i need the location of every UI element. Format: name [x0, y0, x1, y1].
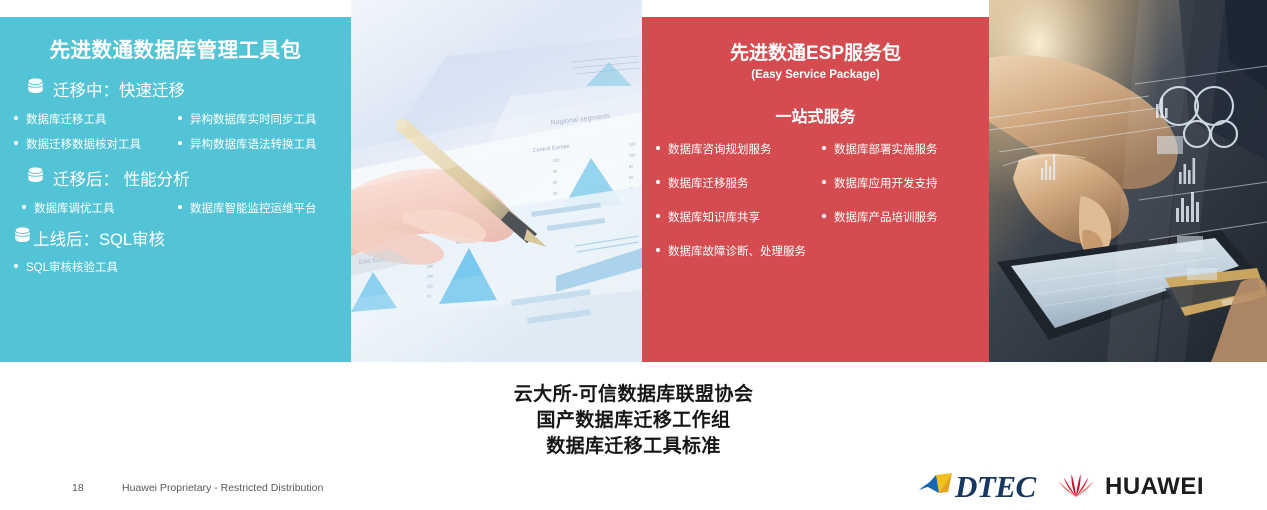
teal-section-heading-performance: 迁移后： 性能分析 [0, 166, 351, 191]
bullet-dot-icon [656, 146, 660, 150]
bullet-dot-icon [14, 141, 18, 145]
list-item: 数据库故障诊断、处理服务 [642, 243, 822, 259]
list-item: 数据库知识库共享 [642, 209, 822, 225]
list-row: 数据库知识库共享 数据库产品培训服务 [642, 209, 989, 225]
caption-line-3: 数据库迁移工具标准 [0, 434, 1267, 460]
teal-section-label: 上线后：SQL审核 [33, 226, 165, 250]
caption-line-1: 云大所-可信数据库联盟协会 [0, 382, 1267, 408]
list-item: 数据库迁移服务 [642, 175, 822, 191]
finger-touching-tablet-data-photo [989, 0, 1267, 362]
bullet-dot-icon [822, 214, 826, 218]
huawei-logo: HUAWEI [1057, 470, 1204, 504]
list-item: 数据库智能监控运维平台 [178, 200, 317, 216]
list-row: SQL审核核验工具 [0, 259, 351, 275]
red-panel-service-list: 数据库咨询规划服务 数据库部署实施服务 数据库迁移服务 数据库应用开发支持 [642, 141, 989, 259]
teal-section-items-migration: 数据库迁移工具 异构数据库实时同步工具 数据迁移数据核对工具 异构数据库语法转换… [0, 111, 351, 152]
list-item: 数据库应用开发支持 [822, 175, 938, 191]
list-row: 数据迁移数据核对工具 异构数据库语法转换工具 [0, 136, 351, 152]
list-item-label: 异构数据库语法转换工具 [190, 136, 317, 152]
bullet-dot-icon [822, 180, 826, 184]
bullet-dot-icon [178, 205, 182, 209]
bullet-dot-icon [656, 214, 660, 218]
bullet-dot-icon [22, 205, 26, 209]
list-item: 异构数据库实时同步工具 [178, 111, 317, 127]
bullet-dot-icon [822, 146, 826, 150]
list-item: SQL审核核验工具 [0, 259, 178, 275]
caption-line-2: 国产数据库迁移工作组 [0, 408, 1267, 434]
database-icon [14, 226, 31, 251]
list-item-label: SQL审核核验工具 [26, 259, 118, 275]
list-item-label: 数据库知识库共享 [668, 209, 760, 225]
list-item-label: 数据库迁移服务 [668, 175, 749, 191]
list-row: 数据库迁移工具 异构数据库实时同步工具 [0, 111, 351, 127]
list-item-label: 数据库部署实施服务 [834, 141, 938, 157]
slide-visual-band: 先进数通数据库管理工具包 迁移中：快速迁移 数据库迁移工具 [0, 0, 1267, 362]
red-panel-tagline: 一站式服务 [642, 103, 989, 127]
bullet-dot-icon [656, 248, 660, 252]
list-item-label: 数据库故障诊断、处理服务 [668, 243, 806, 259]
database-icon [27, 166, 44, 191]
red-panel-title: 先进数通ESP服务包 [642, 43, 989, 65]
list-item-label: 数据库智能监控运维平台 [190, 200, 317, 216]
teal-section-heading-sql-review: 上线后：SQL审核 [0, 226, 351, 251]
dtec-arrow-icon [918, 472, 958, 503]
bullet-dot-icon [14, 264, 18, 268]
list-row: 数据库故障诊断、处理服务 [642, 243, 989, 259]
dtec-wordmark: DTEC [955, 469, 1036, 505]
footer-proprietary-note: Huawei Proprietary - Restricted Distribu… [122, 482, 323, 494]
bullet-dot-icon [178, 116, 182, 120]
bullet-dot-icon [656, 180, 660, 184]
database-icon [27, 77, 44, 102]
bullet-dot-icon [14, 116, 18, 120]
list-item: 数据库咨询规划服务 [642, 141, 822, 157]
teal-toolkit-panel: 先进数通数据库管理工具包 迁移中：快速迁移 数据库迁移工具 [0, 17, 351, 362]
huawei-flower-icon [1057, 471, 1095, 504]
list-item: 数据库调优工具 [0, 200, 178, 216]
caption-block: 云大所-可信数据库联盟协会 国产数据库迁移工作组 数据库迁移工具标准 [0, 382, 1267, 461]
list-item-label: 数据库应用开发支持 [834, 175, 938, 191]
list-item: 数据迁移数据核对工具 [0, 136, 178, 152]
list-row: 数据库调优工具 数据库智能监控运维平台 [0, 200, 351, 216]
teal-section-heading-migration: 迁移中：快速迁移 [0, 77, 351, 102]
list-item-label: 异构数据库实时同步工具 [190, 111, 317, 127]
page-number: 18 [72, 482, 84, 494]
list-item-label: 数据库产品培训服务 [834, 209, 938, 225]
list-item: 数据库部署实施服务 [822, 141, 938, 157]
list-item: 数据库产品培训服务 [822, 209, 938, 225]
teal-section-items-sql-review: SQL审核核验工具 [0, 259, 351, 275]
huawei-wordmark: HUAWEI [1105, 473, 1204, 501]
bullet-dot-icon [178, 141, 182, 145]
red-esp-service-panel: 先进数通ESP服务包 (Easy Service Package) 一站式服务 … [642, 17, 989, 362]
hand-writing-with-pen-over-charts-photo: Regional segments Central Europe 120 100… [351, 0, 642, 362]
list-row: 数据库迁移服务 数据库应用开发支持 [642, 175, 989, 191]
list-item-label: 数据迁移数据核对工具 [26, 136, 141, 152]
teal-section-items-performance: 数据库调优工具 数据库智能监控运维平台 [0, 200, 351, 216]
teal-section-label: 迁移中：快速迁移 [53, 77, 185, 101]
list-item: 数据库迁移工具 [0, 111, 178, 127]
teal-panel-title: 先进数通数据库管理工具包 [0, 40, 351, 63]
red-panel-subtitle: (Easy Service Package) [642, 69, 989, 81]
list-row: 数据库咨询规划服务 数据库部署实施服务 [642, 141, 989, 157]
list-item-label: 数据库调优工具 [34, 200, 115, 216]
list-item-label: 数据库迁移工具 [26, 111, 107, 127]
list-item-label: 数据库咨询规划服务 [668, 141, 772, 157]
list-item: 异构数据库语法转换工具 [178, 136, 317, 152]
dtec-logo: DTEC [918, 470, 1036, 504]
teal-section-label: 迁移后： 性能分析 [53, 166, 190, 190]
